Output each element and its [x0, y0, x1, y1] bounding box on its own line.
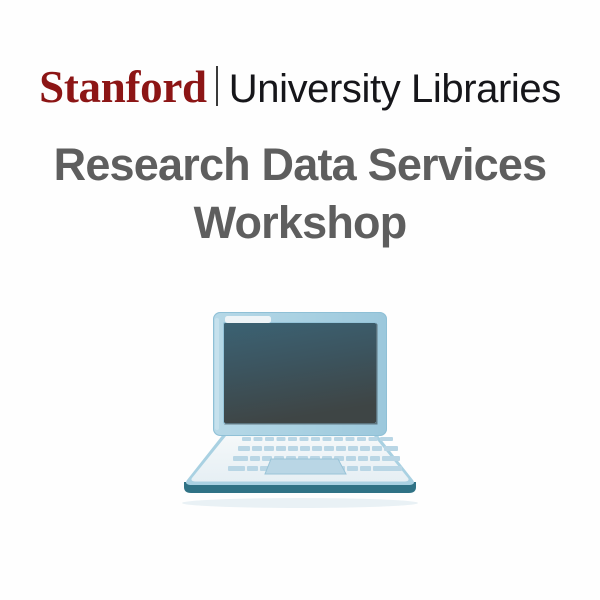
laptop-illustration: [170, 300, 430, 515]
laptop-lid-highlight: [215, 318, 219, 430]
stanford-wordmark: Stanford: [39, 65, 207, 110]
slide-canvas: Stanford University Libraries Research D…: [0, 0, 600, 600]
logo-divider: [216, 66, 218, 106]
page-title: Research Data Services Workshop: [0, 136, 600, 251]
laptop-shadow: [182, 498, 418, 508]
laptop-screen: [224, 323, 376, 423]
laptop-trackpad: [265, 459, 346, 474]
university-libraries-wordmark: University Libraries: [229, 69, 561, 109]
laptop-bezel-highlight: [225, 316, 271, 323]
page-title-line-2: Workshop: [0, 194, 600, 252]
stanford-university-libraries-logo: Stanford University Libraries: [0, 62, 600, 110]
laptop-graphic: [170, 300, 430, 515]
page-title-line-1: Research Data Services: [0, 136, 600, 194]
